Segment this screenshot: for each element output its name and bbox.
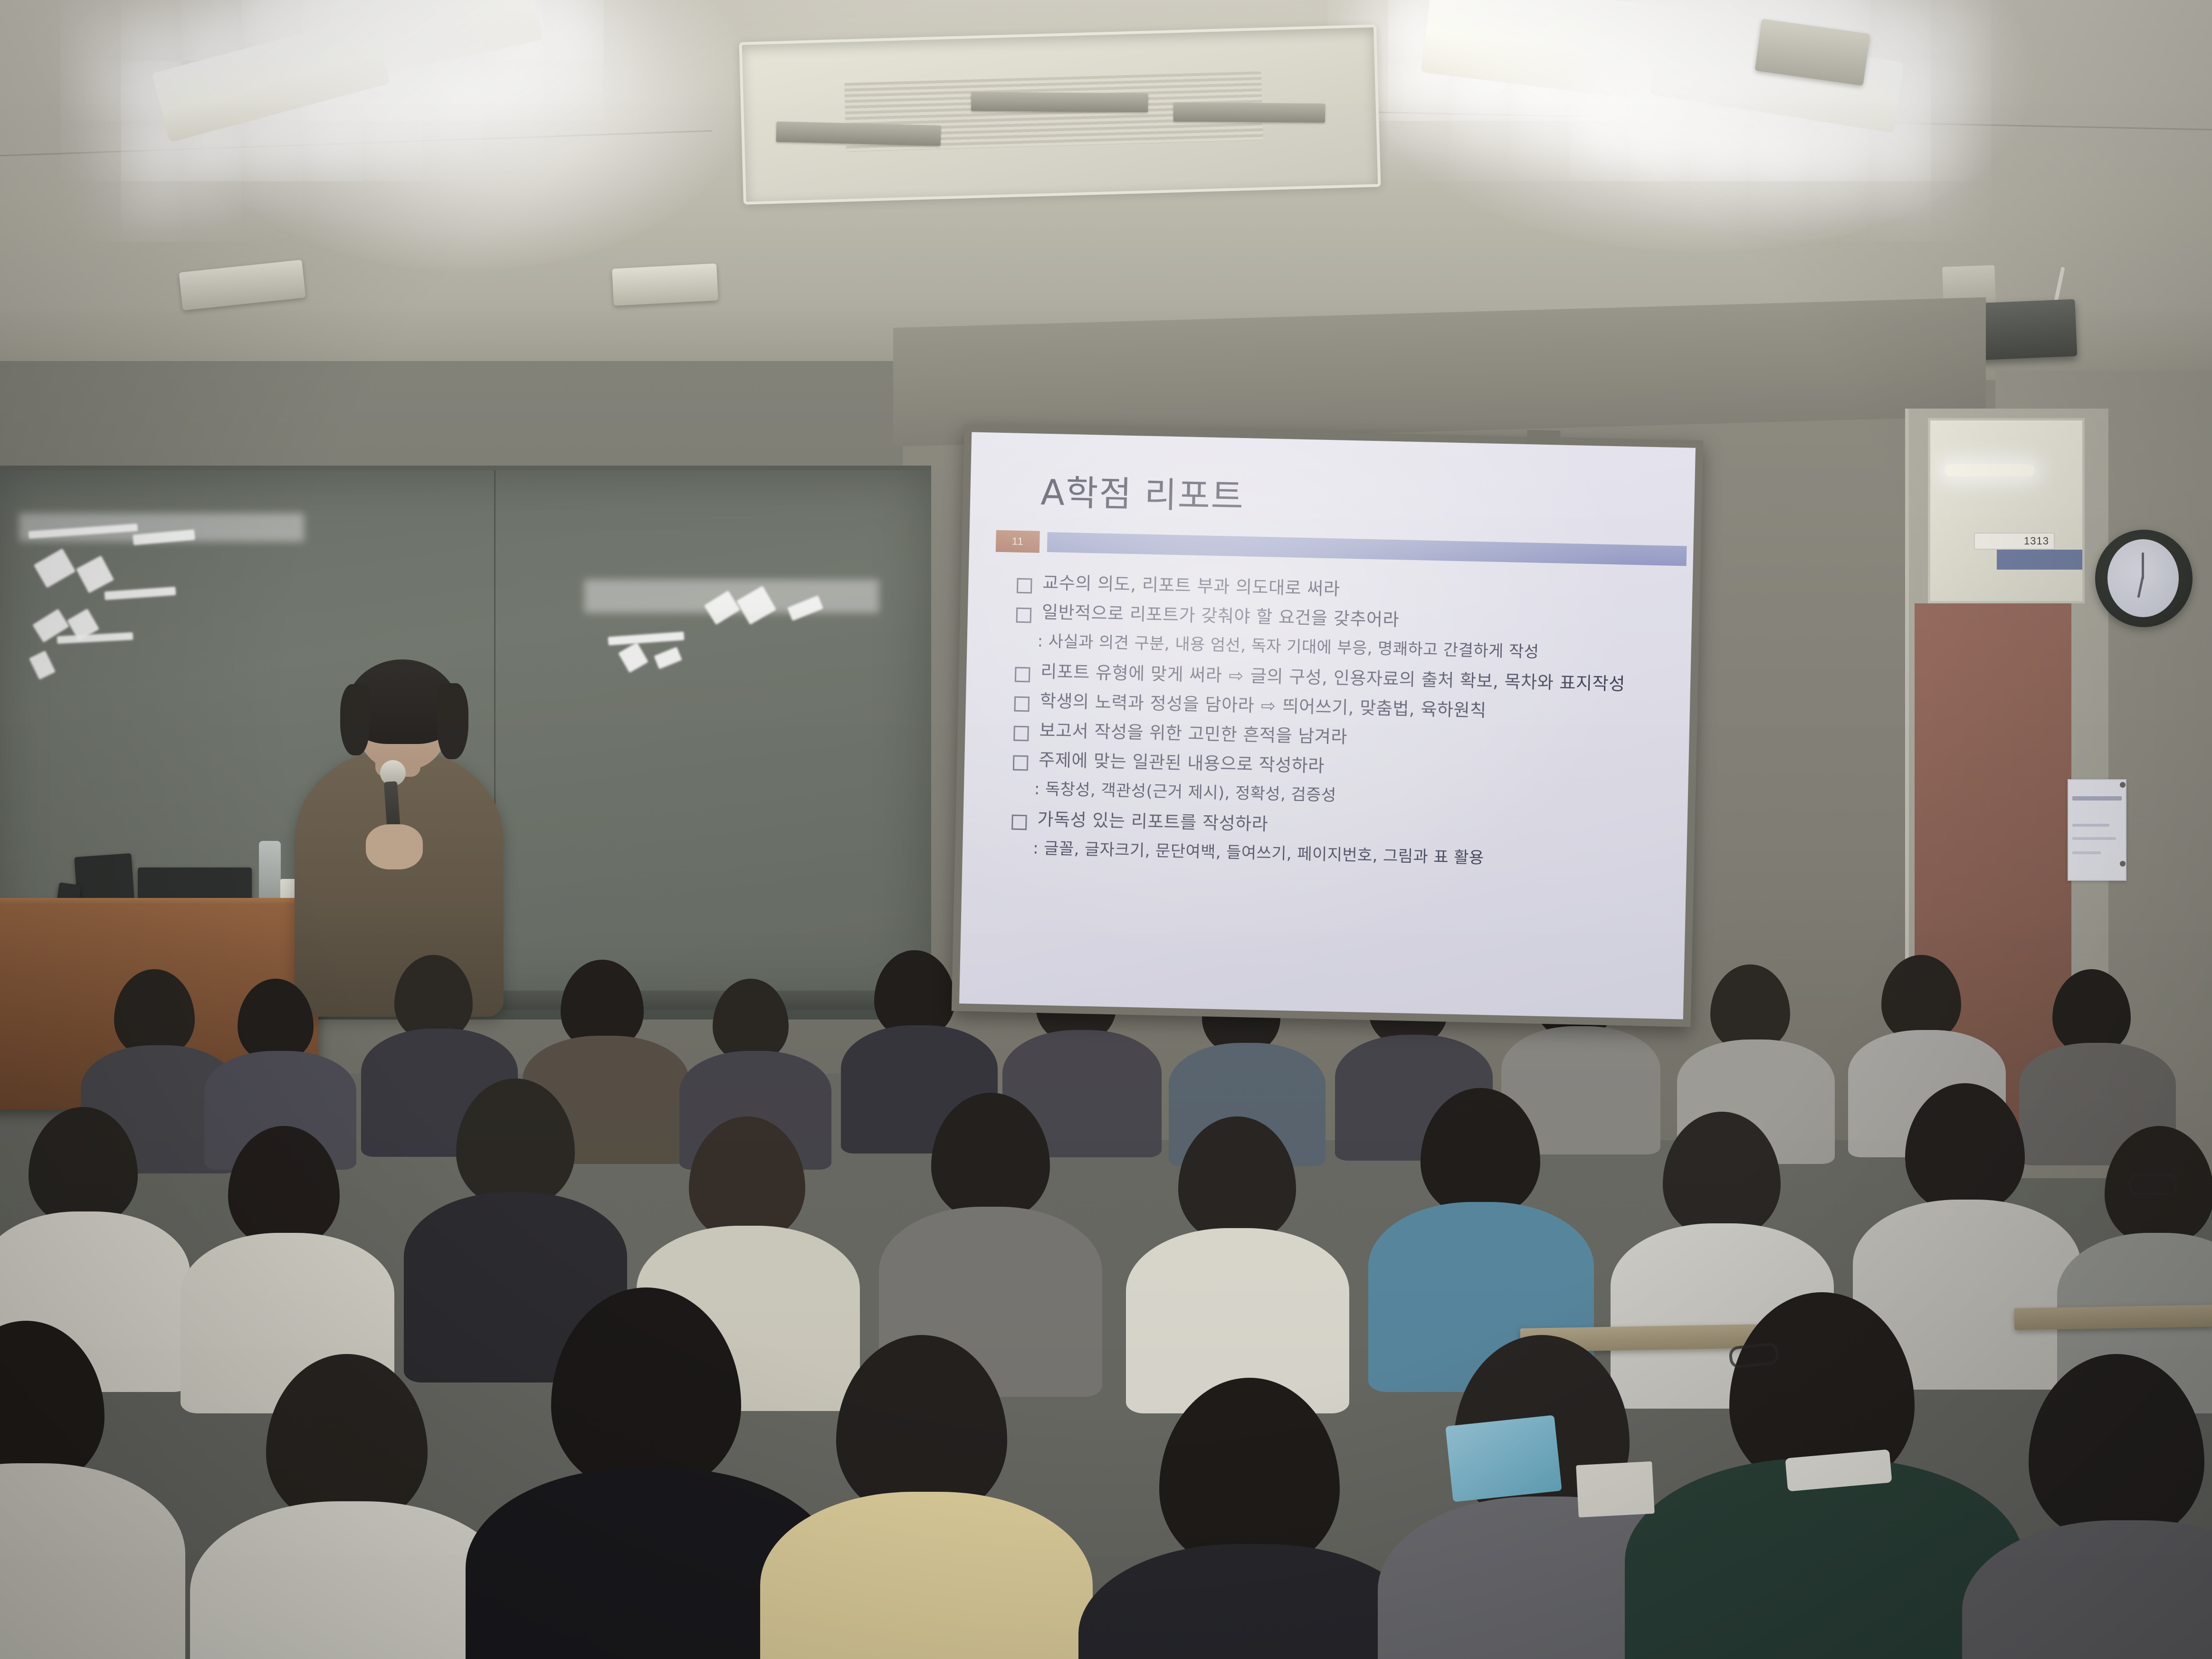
bullet-main: 리포트 유형에 맞게 써라 (1040, 661, 1222, 686)
ac-vane (971, 92, 1148, 112)
checkbox-icon (1011, 814, 1027, 830)
audience-head (1881, 955, 1961, 1041)
paper-sheet (1576, 1461, 1655, 1517)
wall-clock (2095, 530, 2193, 627)
audience-head (394, 955, 473, 1040)
audience-head (713, 979, 789, 1062)
slide: A학점 리포트 11 교수의 의도, 리포트 부과 의도대로 써라 일반적으로 … (959, 432, 1696, 1020)
corridor-panel (1997, 550, 2085, 570)
checkbox-icon (1013, 725, 1029, 741)
ac-vane (776, 121, 941, 145)
audience-body (1078, 1544, 1425, 1659)
audience-body (0, 1463, 185, 1659)
audience-head (238, 979, 314, 1062)
clock-face (2107, 539, 2179, 617)
bullet-text: 리포트 유형에 맞게 써라⇨글의 구성, 인용자료의 출처 확보, 목차와 표지… (1040, 662, 1625, 695)
corridor-light (1945, 464, 2035, 477)
notice-pin (2120, 861, 2126, 867)
room-number-text: 1313 (2024, 535, 2049, 547)
audience (0, 926, 2212, 1659)
checkbox-icon (1016, 608, 1032, 623)
bullet-item: 학생의 노력과 정성을 담아라⇨띄어쓰기, 맞춤법, 육하원칙 (1014, 690, 1664, 725)
bullet-item: 주제에 맞는 일관된 내용으로 작성하라 (1013, 749, 1663, 784)
page-number-badge: 11 (996, 530, 1040, 553)
room-number-sign: 1313 (1974, 533, 2055, 550)
presenter-hair-side (437, 683, 468, 759)
presenter-hair-side (340, 684, 370, 755)
audience-body (190, 1501, 513, 1659)
checkbox-icon (1017, 578, 1032, 594)
bullet-item: 리포트 유형에 맞게 써라⇨글의 구성, 인용자료의 출처 확보, 목차와 표지… (1015, 661, 1665, 696)
eyeglasses (2128, 1173, 2178, 1195)
audience-head (114, 969, 195, 1057)
bullet-text: 보고서 작성을 위한 고민한 흔적을 남겨라 (1039, 721, 1347, 748)
bullet-item: 가독성 있는 리포트를 작성하라 (1011, 809, 1662, 844)
transom-window: 1313 (1928, 418, 2085, 603)
audience-body (760, 1492, 1093, 1659)
bullet-item: 보고서 작성을 위한 고민한 흔적을 남겨라 (1013, 720, 1664, 755)
lecture-hall-photo: 1313 (0, 0, 2212, 1659)
bullet-text: 교수의 의도, 리포트 부과 의도대로 써라 (1042, 573, 1340, 600)
checkbox-icon (1014, 696, 1030, 712)
ac-vane (1173, 103, 1325, 123)
desk (2014, 1305, 2212, 1330)
notice-pin (2120, 782, 2126, 788)
water-bottle (259, 841, 281, 907)
presenter-hand (366, 824, 423, 869)
bullet-subtext: : 글꼴, 글자크기, 문단여백, 들여쓰기, 페이지번호, 그림과 표 활용 (1033, 839, 1661, 872)
slide-rule: 11 (996, 530, 1668, 567)
bullet-item: 일반적으로 리포트가 갖춰야 할 요건을 갖추어라 (1016, 602, 1667, 637)
ceiling-speaker (612, 263, 718, 305)
bullet-text: 학생의 노력과 정성을 담아라⇨띄어쓰기, 맞춤법, 육하원칙 (1040, 691, 1487, 721)
projection-screen: A학점 리포트 11 교수의 의도, 리포트 부과 의도대로 써라 일반적으로 … (952, 424, 1704, 1027)
bullet-after: 띄어쓰기, 맞춤법, 육하원칙 (1282, 696, 1487, 721)
bag-item (1445, 1415, 1562, 1502)
bullet-text: 일반적으로 리포트가 갖춰야 할 요건을 갖추어라 (1042, 602, 1400, 630)
checkbox-icon (1013, 755, 1029, 771)
slide-title: A학점 리포트 (1040, 464, 1669, 529)
air-conditioner-unit (739, 24, 1381, 204)
bullet-subtext: : 사실과 의견 구분, 내용 엄선, 독자 기대에 부응, 명쾌하고 간결하게… (1037, 632, 1666, 665)
bullet-after: 글의 구성, 인용자료의 출처 확보, 목차와 표지작성 (1250, 666, 1625, 694)
accent-bar (1047, 532, 1687, 566)
bullet-main: 학생의 노력과 정성을 담아라 (1040, 691, 1255, 716)
checkbox-icon (1015, 667, 1030, 682)
screen-surface: A학점 리포트 11 교수의 의도, 리포트 부과 의도대로 써라 일반적으로 … (959, 432, 1696, 1020)
slide-bullets: 교수의 의도, 리포트 부과 의도대로 써라 일반적으로 리포트가 갖춰야 할 … (1011, 572, 1667, 872)
arrow-right-icon: ⇨ (1222, 665, 1250, 686)
audience-head (2052, 969, 2131, 1054)
arrow-right-icon: ⇨ (1254, 695, 1283, 716)
bullet-item: 교수의 의도, 리포트 부과 의도대로 써라 (1017, 572, 1667, 608)
audience-head (1710, 964, 1790, 1051)
bullet-text: 주제에 맞는 일관된 내용으로 작성하라 (1039, 750, 1325, 777)
bullet-text: 가독성 있는 리포트를 작성하라 (1037, 809, 1268, 834)
wall-notice (2068, 779, 2126, 881)
bullet-subtext: : 독창성, 객관성(근거 제시), 정확성, 검증성 (1034, 779, 1663, 812)
page-number-text: 11 (1012, 535, 1024, 548)
